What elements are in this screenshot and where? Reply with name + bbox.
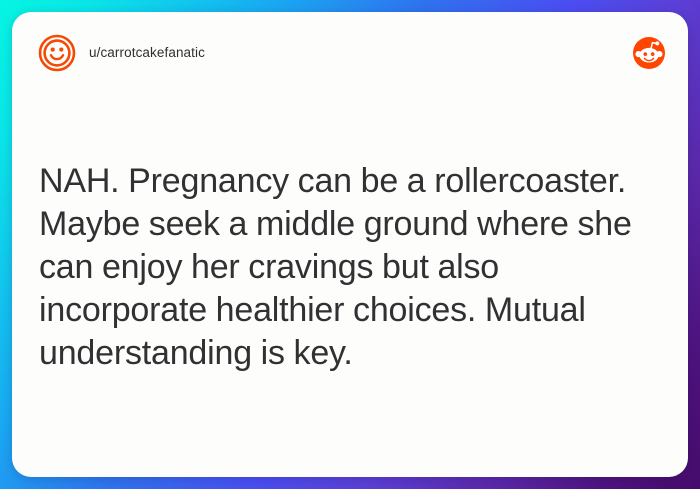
comment-text: NAH. Pregnancy can be a rollercoaster. M… [39, 160, 665, 375]
avatar[interactable] [38, 34, 76, 72]
reddit-snoo-icon [632, 36, 666, 70]
screenshot-stage: u/carrotcakefanatic [0, 0, 700, 489]
card-header: u/carrotcakefanatic [12, 12, 688, 94]
reddit-comment-card: u/carrotcakefanatic [12, 12, 688, 477]
username-label: u/carrotcakefanatic [89, 46, 205, 60]
smiley-face-avatar-icon [38, 34, 76, 72]
reddit-brand-logo[interactable] [632, 36, 666, 70]
